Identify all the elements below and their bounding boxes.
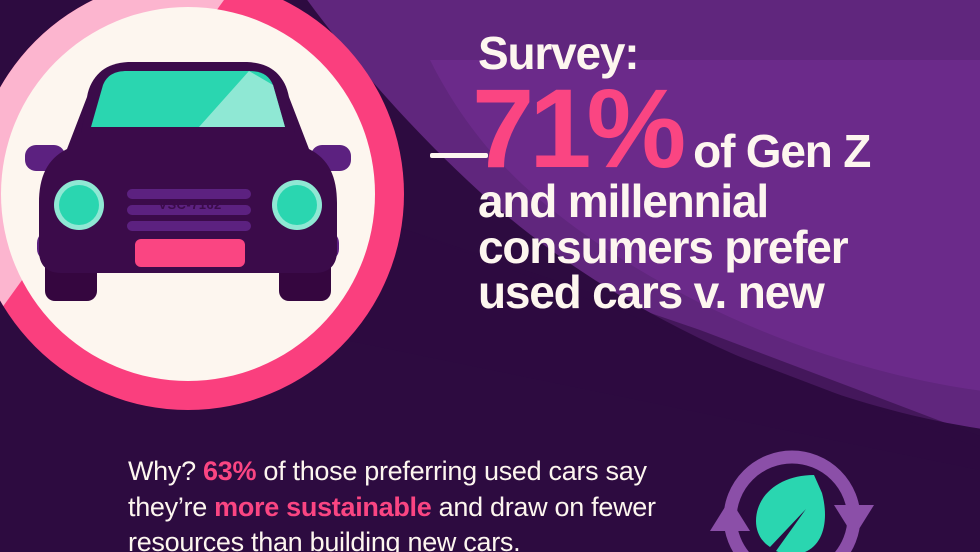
subtext-highlight: more sustainable	[214, 492, 431, 522]
recycle-leaf-icon	[706, 437, 878, 552]
headline-stat-row: 71% of Gen Z	[472, 76, 952, 182]
headline-after-percent: of Gen Z	[693, 124, 870, 178]
car-headlight-right-inner	[277, 185, 317, 225]
leaf-icon	[756, 475, 825, 552]
headline-block: Survey: 71% of Gen Z and millennial cons…	[478, 30, 952, 319]
subtext-prefix: Why?	[128, 456, 203, 486]
subtext-stat: 63%	[203, 456, 256, 486]
recycle-arrowhead-right	[834, 505, 874, 537]
car-front-icon	[23, 53, 353, 321]
car-grille-bar	[127, 221, 251, 231]
subtext-paragraph: Why? 63% of those preferring used cars s…	[128, 454, 708, 552]
headline-percent: 71%	[472, 76, 681, 182]
car-badge: VSC-7162	[0, 0, 404, 410]
badge-inner-circle: VSC-7162	[1, 7, 375, 381]
infographic-canvas: VSC-7162 Survey: 71% of Gen Z and millen…	[0, 0, 980, 552]
license-plate-text: VSC-7162	[135, 197, 245, 212]
headline-line-4: used cars v. new	[478, 267, 952, 319]
car-headlight-left-inner	[59, 185, 99, 225]
recycle-arrowhead-left	[710, 499, 750, 531]
car-license-plate	[135, 239, 245, 267]
